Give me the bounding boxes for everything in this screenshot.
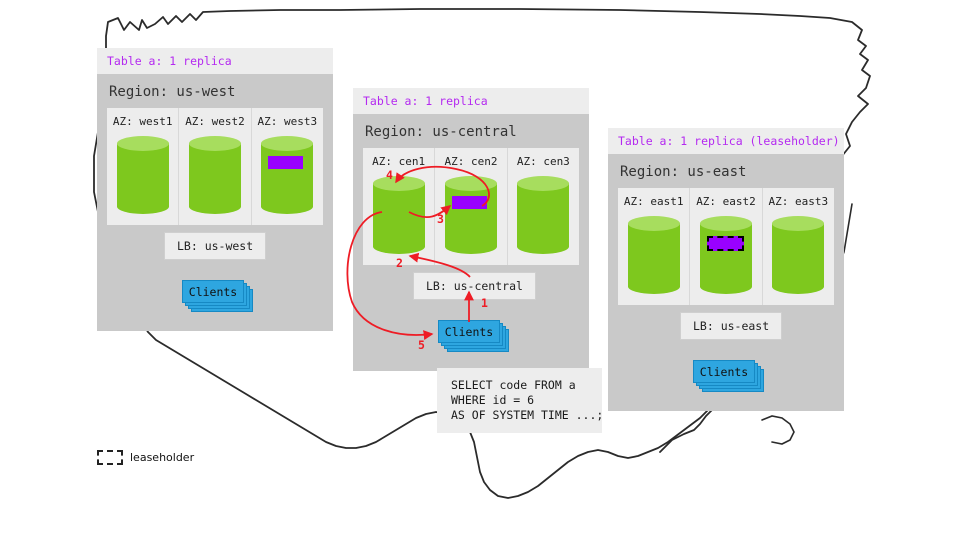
az-cell-cen2[interactable]: AZ: cen2 (435, 148, 507, 265)
az-label: AZ: cen2 (435, 155, 506, 168)
clients-label[interactable]: Clients (693, 360, 755, 383)
cylinder-top (517, 176, 569, 191)
node-cylinder[interactable] (445, 176, 497, 254)
diagram-canvas: Table a: 1 replica Region: us-west AZ: w… (0, 0, 960, 540)
load-balancer-us-east[interactable]: LB: us-east (680, 312, 782, 340)
cylinder-body (628, 223, 680, 287)
clients-label[interactable]: Clients (182, 280, 244, 303)
legend: leaseholder (97, 450, 194, 465)
region-title: Region: us-central (353, 114, 589, 148)
cylinder-body (772, 223, 824, 287)
node-cylinder[interactable] (261, 136, 313, 214)
cylinder-body (261, 143, 313, 207)
cylinder-top (189, 136, 241, 151)
node-cylinder[interactable] (189, 136, 241, 214)
region-replica-header: Table a: 1 replica (leaseholder) (608, 128, 844, 154)
region-panel-us-central: Table a: 1 replica Region: us-central AZ… (353, 88, 589, 371)
cylinder-top (445, 176, 497, 191)
cylinder-top (117, 136, 169, 151)
clients-stack-us-west[interactable]: Clients (182, 280, 252, 310)
az-label: AZ: west1 (107, 115, 178, 128)
clients-stack-us-central[interactable]: Clients (438, 320, 508, 350)
az-row: AZ: west1 AZ: west2 AZ: west3 (107, 108, 323, 225)
az-row: AZ: east1 AZ: east2 AZ: east3 (618, 188, 834, 305)
az-cell-cen3[interactable]: AZ: cen3 (508, 148, 579, 265)
replica-block[interactable] (268, 156, 303, 169)
cylinder-top (261, 136, 313, 151)
az-cell-cen1[interactable]: AZ: cen1 (363, 148, 435, 265)
node-cylinder[interactable] (517, 176, 569, 254)
cylinder-body (373, 183, 425, 247)
az-cell-east1[interactable]: AZ: east1 (618, 188, 690, 305)
region-title: Region: us-west (97, 74, 333, 108)
step-number-3: 3 (437, 212, 444, 226)
region-title: Region: us-east (608, 154, 844, 188)
az-cell-west3[interactable]: AZ: west3 (252, 108, 323, 225)
az-label: AZ: east1 (618, 195, 689, 208)
node-cylinder[interactable] (117, 136, 169, 214)
replica-block[interactable] (452, 196, 487, 209)
az-label: AZ: east3 (763, 195, 834, 208)
step-number-5: 5 (418, 338, 425, 352)
az-label: AZ: cen3 (508, 155, 579, 168)
cylinder-top (772, 216, 824, 231)
az-label: AZ: west2 (179, 115, 250, 128)
cylinder-top (373, 176, 425, 191)
cylinder-body (700, 223, 752, 287)
region-panel-us-west: Table a: 1 replica Region: us-west AZ: w… (97, 48, 333, 331)
legend-label: leaseholder (130, 451, 194, 464)
clients-label[interactable]: Clients (438, 320, 500, 343)
node-cylinder[interactable] (628, 216, 680, 294)
az-label: AZ: cen1 (363, 155, 434, 168)
az-cell-west1[interactable]: AZ: west1 (107, 108, 179, 225)
load-balancer-us-central[interactable]: LB: us-central (413, 272, 536, 300)
dashed-rect-icon (97, 450, 123, 465)
node-cylinder[interactable] (772, 216, 824, 294)
cylinder-top (700, 216, 752, 231)
step-number-2: 2 (396, 256, 403, 270)
cylinder-top (628, 216, 680, 231)
az-label: AZ: east2 (690, 195, 761, 208)
node-cylinder[interactable] (373, 176, 425, 254)
cylinder-body (189, 143, 241, 207)
cylinder-body (517, 183, 569, 247)
region-replica-header: Table a: 1 replica (353, 88, 589, 114)
node-cylinder[interactable] (700, 216, 752, 294)
cylinder-body (117, 143, 169, 207)
az-cell-east2[interactable]: AZ: east2 (690, 188, 762, 305)
step-number-4: 4 (386, 168, 393, 182)
az-label: AZ: west3 (252, 115, 323, 128)
sql-query-box: SELECT code FROM a WHERE id = 6 AS OF SY… (437, 368, 602, 433)
az-cell-east3[interactable]: AZ: east3 (763, 188, 834, 305)
az-row: AZ: cen1 AZ: cen2 AZ: cen3 (363, 148, 579, 265)
step-number-1: 1 (481, 296, 488, 310)
load-balancer-us-west[interactable]: LB: us-west (164, 232, 266, 260)
clients-stack-us-east[interactable]: Clients (693, 360, 763, 390)
replica-block-leaseholder[interactable] (707, 236, 744, 251)
az-cell-west2[interactable]: AZ: west2 (179, 108, 251, 225)
region-panel-us-east: Table a: 1 replica (leaseholder) Region:… (608, 128, 844, 411)
region-replica-header: Table a: 1 replica (97, 48, 333, 74)
cylinder-body (445, 183, 497, 247)
